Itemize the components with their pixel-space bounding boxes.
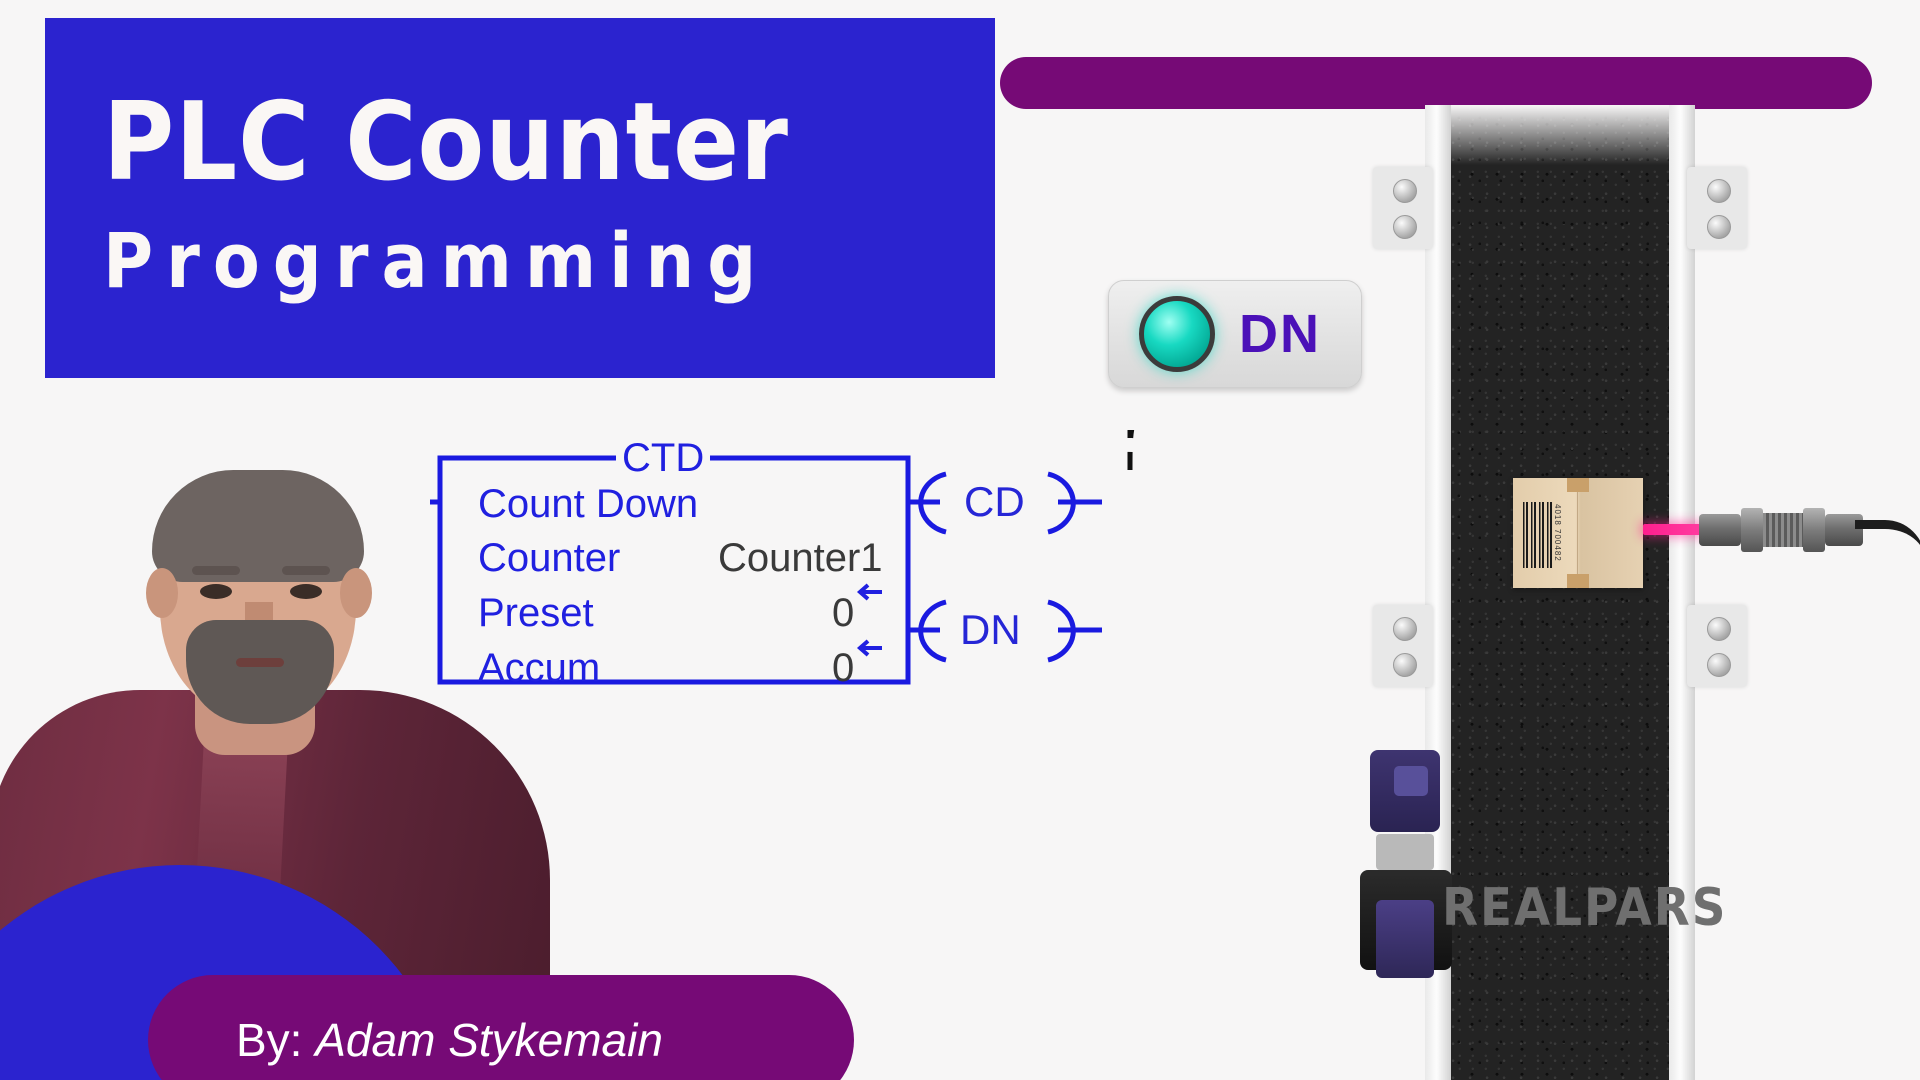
presenter-ear-right [340,568,372,618]
ctd-row-label-2: Preset [478,591,594,636]
realpars-logo: REALPARS [1442,878,1727,938]
presenter-eye-right [290,584,322,599]
page-subtitle: Programming [103,213,995,308]
presenter-hair [152,470,364,582]
presenter-eye-left [200,584,232,599]
coil-label-cd: CD [964,478,1025,526]
page-title: PLC Counter [103,88,995,198]
byline-text: By: Adam Stykemain [236,1013,663,1067]
ctd-row-value-2[interactable]: 0 [832,591,854,636]
sensor-cable [1855,520,1920,571]
coil-label-dn: DN [960,606,1021,654]
screw-icon [1393,215,1417,239]
preset-arrow-icon [860,585,882,599]
screw-icon [1707,215,1731,239]
presenter-beard [186,620,334,724]
presenter-eyebrow-left [192,566,240,575]
screw-icon [1707,179,1731,203]
presenter-eyebrow-right [282,566,330,575]
sensor-nut-back [1803,508,1825,552]
ladder-rung: CTD Count Down Counter Counter1 Preset 0… [430,430,1780,850]
ctd-row-label-0: Count Down [478,482,698,527]
ctd-row-label-1: Counter [478,536,620,581]
byline-banner: By: Adam Stykemain [148,975,854,1080]
title-card: PLC Counter Programming [45,18,995,378]
ctd-instruction-label: CTD [616,436,710,481]
dn-status-led [1139,296,1215,372]
ctd-row-value-3[interactable]: 0 [832,646,854,691]
mount-bracket-top-left [1373,167,1433,249]
dn-indicator-label: DN [1239,303,1321,365]
mount-bracket-top-right [1687,167,1747,249]
ctd-row-label-3: Accum [478,646,600,691]
byline-prefix: By: [236,1014,315,1066]
accum-arrow-icon [860,641,882,655]
top-accent-bar [1000,57,1872,109]
dashed-wire-elbow [1130,430,1290,470]
presenter-ear-left [146,568,178,618]
slide-canvas: 4018 700482 REALPARS PLC [0,0,1920,1080]
motor-base [1376,900,1434,978]
ctd-row-value-1[interactable]: Counter1 [718,536,883,581]
screw-icon [1393,179,1417,203]
dn-indicator-lamp[interactable]: DN [1108,280,1362,388]
presenter-mouth [236,658,284,667]
byline-author: Adam Stykemain [315,1014,663,1066]
